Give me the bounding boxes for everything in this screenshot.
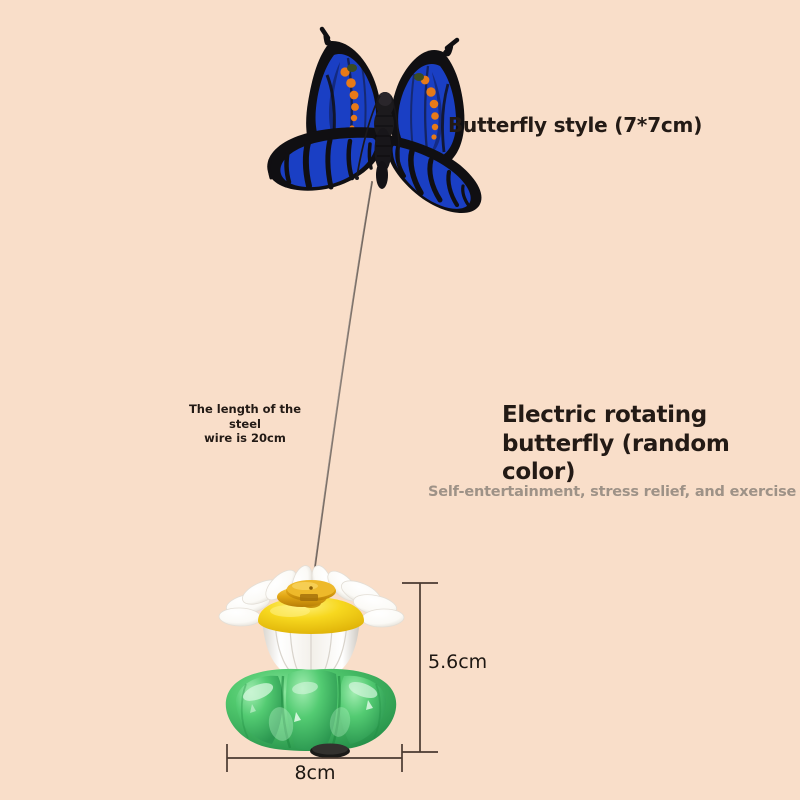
wire-length-line-1: The length of the steel [175, 402, 315, 431]
product-title-line-2: butterfly (random color) [502, 430, 798, 487]
flower-base-unit [219, 563, 405, 758]
product-title-line-1: Electric rotating [502, 401, 798, 430]
product-subtitle: Self-entertainment, stress relief, and e… [428, 484, 800, 500]
wire-length-label: The length of the steel wire is 20cm [175, 402, 315, 446]
butterfly-style-label: Butterfly style (7*7cm) [448, 113, 702, 137]
width-dimension-label: 8cm [227, 762, 403, 784]
product-image-canvas: Butterfly style (7*7cm) The length of th… [0, 0, 800, 800]
product-title: Electric rotating butterfly (random colo… [502, 401, 798, 487]
wire-length-line-2: wire is 20cm [175, 431, 315, 446]
height-dimension-label: 5.6cm [428, 651, 487, 673]
steel-wire [310, 182, 372, 596]
green-leaf-base [226, 669, 396, 758]
